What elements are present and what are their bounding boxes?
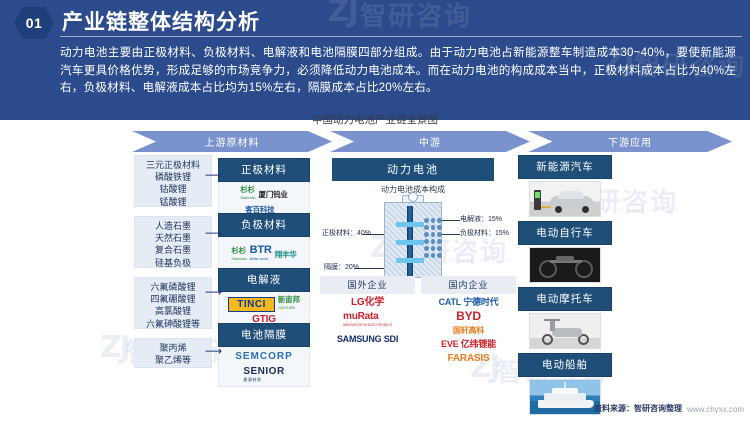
company-group-foreign: 国外企业 LG化学 muRata INNOVATOR IN ELECTRONIC… — [320, 276, 415, 367]
material-list-anode: 人造石墨 天然石墨 复合石墨 硅基负极 — [134, 216, 212, 268]
downstream-item-ebike: 电动自行车 — [518, 221, 612, 283]
material-line: 四氟硼酸锂 — [137, 293, 209, 305]
electric-car-charging-image — [529, 181, 601, 217]
header-watermark-brand: 智研咨询 — [360, 0, 472, 33]
category-title: 负极材料 — [218, 213, 310, 237]
logo-murata: muRata INNOVATOR IN ELECTRONICS — [343, 312, 392, 330]
group-logos: CATL 宁德时代 BYD 国轩高科 EVE 亿纬锂能 FARASIS — [421, 294, 516, 367]
midstream-companies: 国外企业 LG化学 muRata INNOVATOR IN ELECTRONIC… — [320, 276, 516, 367]
intro-paragraph: 动力电池主要由正极材料、负极材料、电解液和电池隔膜四部分组成。由于动力电池占新能… — [60, 44, 736, 97]
upstream-category-separator: 电池隔膜 SEMCORP SENIOR 星源材质 — [218, 323, 310, 387]
logo-farasis: FARASIS — [448, 354, 490, 363]
logo-catl: CATL 宁德时代 — [439, 298, 499, 307]
category-title: 正极材料 — [218, 158, 310, 182]
slide-root: ZJ 智研咨询 INTELLIGENCE RESEARCH GROUP ZJ 智… — [0, 0, 750, 421]
leader-line — [442, 220, 460, 221]
battery-plate-icon — [396, 240, 424, 245]
battery-terminal-icon — [408, 192, 418, 202]
stage-chevrons: 上游原材料 中游 下游应用 — [132, 131, 732, 152]
electric-motorcycle-image — [529, 313, 601, 349]
material-line: 天然石墨 — [137, 232, 209, 244]
annotation-anode: 负极材料：15% — [460, 228, 509, 238]
page-title: 产业链整体结构分析 — [62, 6, 260, 36]
logo-byd: BYD — [456, 312, 481, 321]
section-number-badge: 01 — [14, 7, 54, 39]
material-line: 三元正极材料 — [137, 159, 209, 171]
logo-capchem: 新宙邦 CAPCHEM — [278, 295, 300, 313]
battery-cost-diagram: 正极材料：40% 隔膜：20% 电解液：15% 负极材料：15% — [332, 196, 494, 282]
right-arrow-icon: ⟶ — [205, 169, 221, 181]
logo-btr: BTR Better world — [250, 246, 272, 264]
category-logos: SEMCORP SENIOR 星源材质 — [218, 347, 310, 387]
material-line: 聚丙烯 — [137, 342, 209, 354]
material-line: 钴酸锂 — [137, 183, 209, 195]
annotation-separator: 隔膜：20% — [324, 262, 359, 272]
midstream-panel: 动力电池 动力电池成本构成 正极材料：40% — [332, 158, 494, 282]
downstream-applications: 新能源汽车 电动自行车 — [518, 155, 612, 419]
material-line: 磷酸铁锂 — [137, 171, 209, 183]
downstream-item-ev: 新能源汽车 — [518, 155, 612, 217]
leader-line — [442, 234, 460, 235]
right-arrow-icon: ⟶ — [205, 286, 221, 298]
logo-senior: SENIOR 星源材质 — [243, 366, 284, 383]
site-url: www.chyxx.com — [687, 405, 744, 414]
battery-particles-icon — [424, 218, 442, 260]
logo-eve: EVE 亿纬锂能 — [441, 340, 496, 349]
title-divider — [60, 36, 742, 37]
application-title: 电动摩托车 — [518, 287, 612, 311]
flow-arrows: ⟶ ⟶ ⟶ ⟶ — [205, 155, 221, 357]
stage-downstream: 下游应用 — [528, 131, 732, 152]
logo-tinci: TINCI — [228, 297, 275, 312]
material-line: 六氟砷酸锂等 — [137, 318, 209, 330]
annotation-electrolyte: 电解液：15% — [460, 214, 502, 224]
electric-boat-image — [529, 379, 601, 415]
material-line: 硅基负极 — [137, 257, 209, 269]
source-note: 资料来源：智研咨询整理 — [594, 403, 682, 414]
upstream-category-electrolyte: 电解液 TINCI 新宙邦 CAPCHEM GTIG — [218, 268, 310, 328]
logo-shanshan: 杉杉 Shanshan — [240, 185, 255, 203]
logo-shanshan: 杉杉 Shanshan — [231, 246, 246, 264]
category-title: 电池隔膜 — [218, 323, 310, 347]
stage-midstream: 中游 — [330, 131, 530, 152]
downstream-item-emoto: 电动摩托车 — [518, 287, 612, 349]
right-arrow-icon: ⟶ — [205, 227, 221, 239]
logo-lg-chem: LG化学 — [351, 298, 384, 307]
logo-xiangfenghua: 翔丰华 — [275, 250, 297, 259]
material-list-cathode: 三元正极材料 磷酸铁锂 钴酸锂 锰酸锂 — [134, 155, 212, 207]
upstream-category-anode: 负极材料 杉杉 Shanshan BTR Better world 翔丰华 — [218, 213, 310, 273]
material-line: 锰酸锂 — [137, 196, 209, 208]
annotation-cathode: 正极材料：40% — [322, 228, 371, 238]
category-title: 电解液 — [218, 268, 310, 292]
material-line: 聚乙烯等 — [137, 354, 209, 366]
application-title: 电动船舶 — [518, 353, 612, 377]
application-title: 新能源汽车 — [518, 155, 612, 179]
material-line: 人造石墨 — [137, 220, 209, 232]
logo-xiamen-tungsten: 厦门钨业 — [259, 190, 288, 199]
battery-plate-icon — [396, 222, 424, 227]
logo-semcorp: SEMCORP — [235, 351, 293, 362]
stage-upstream: 上游原材料 — [132, 131, 332, 152]
header-watermark-mark: ZJ — [328, 0, 357, 29]
upstream-materials: 三元正极材料 磷酸铁锂 钴酸锂 锰酸锂 人造石墨 天然石墨 复合石墨 硅基负极 … — [134, 155, 212, 377]
battery-plate-icon — [396, 258, 424, 263]
material-list-separator: 聚丙烯 聚乙烯等 — [134, 338, 212, 368]
watermark-mark: ZJ — [100, 330, 129, 365]
diagram-title: 中国动力电池产业链全景图 — [0, 112, 750, 127]
group-title: 国外企业 — [320, 276, 415, 294]
group-title: 国内企业 — [421, 276, 516, 294]
logo-samsung-sdi: SAMSUNG SDI — [337, 335, 398, 344]
material-line: 高氯酸锂 — [137, 305, 209, 317]
midstream-title: 动力电池 — [332, 158, 494, 181]
material-list-electrolyte: 六氟磷酸锂 四氟硼酸锂 高氯酸锂 六氟砷酸锂等 — [134, 277, 212, 329]
header-banner: ZJ 智研咨询 ZJ 智研咨询 01 产业链整体结构分析 动力电池主要由正极材料… — [0, 0, 750, 120]
company-group-domestic: 国内企业 CATL 宁德时代 BYD 国轩高科 EVE 亿纬锂能 FARASIS — [421, 276, 516, 367]
material-line: 复合石墨 — [137, 244, 209, 256]
group-logos: LG化学 muRata INNOVATOR IN ELECTRONICS SAM… — [320, 294, 415, 348]
logo-gotion: 国轩高科 — [453, 326, 484, 335]
upstream-category-cathode: 正极材料 杉杉 Shanshan 厦门钨业 客百科技 KOBOTI TECHNO… — [218, 158, 310, 218]
application-title: 电动自行车 — [518, 221, 612, 245]
right-arrow-icon: ⟶ — [205, 345, 221, 357]
material-line: 六氟磷酸锂 — [137, 281, 209, 293]
electric-bicycle-image — [529, 247, 601, 283]
